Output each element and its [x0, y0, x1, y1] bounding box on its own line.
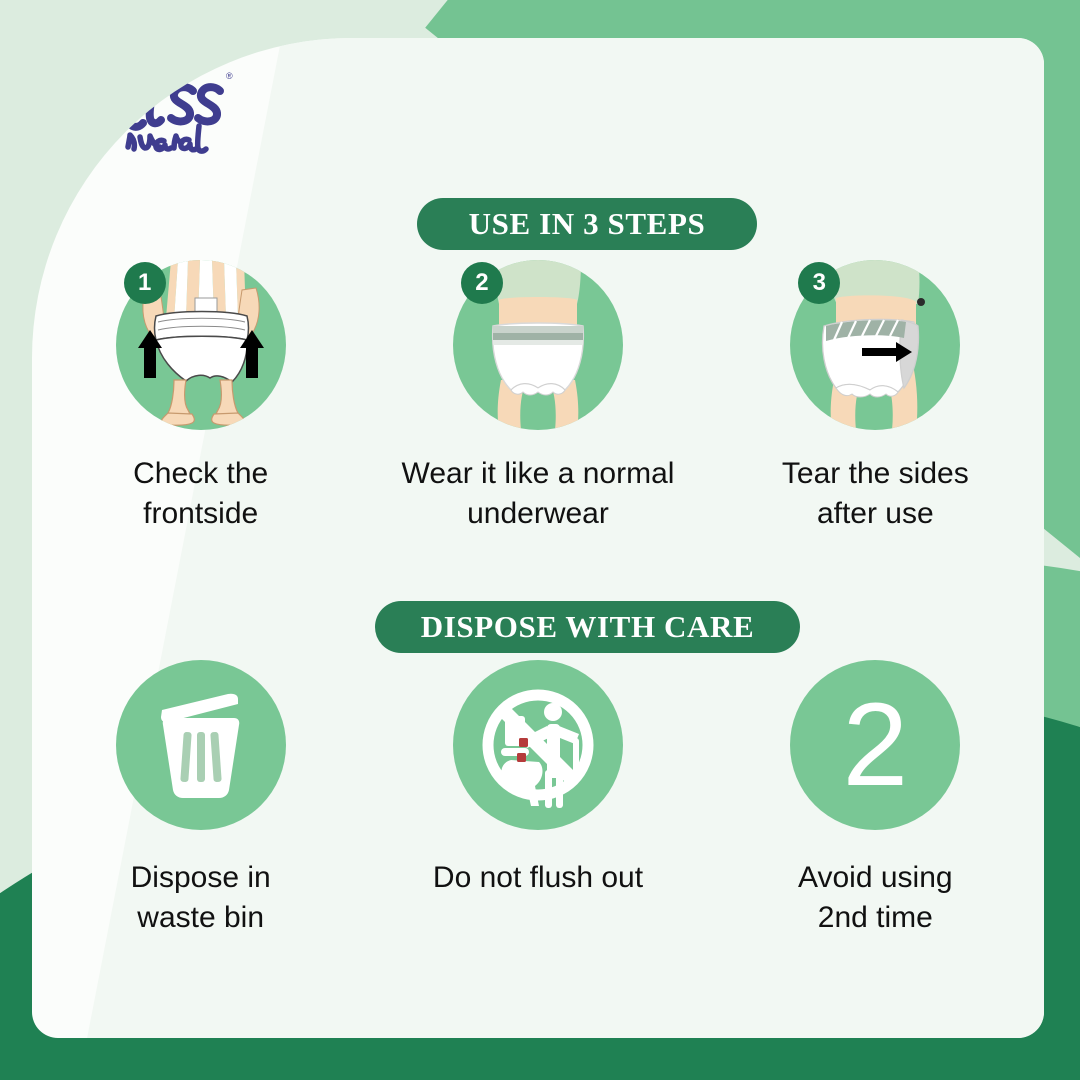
step-caption-1: Check the frontside [133, 454, 268, 533]
no-flush-icon [453, 660, 623, 830]
dispose-caption-3: Avoid using 2nd time [798, 858, 953, 937]
usage-steps-row: 1 [32, 260, 1044, 533]
step-dispose-in-waste-bin: Dispose in waste bin [32, 660, 369, 937]
brand-logo: ® [50, 44, 240, 169]
trademark-symbol: ® [226, 71, 233, 81]
disposal-row: Dispose in waste bin [32, 660, 1044, 937]
content-card: ® USE IN 3 STEPS [32, 38, 1044, 1038]
step-avoid-second-use: 2 Avoid using 2nd time [707, 660, 1044, 937]
leaf-icon [61, 59, 84, 82]
dispose-caption-1: Dispose in waste bin [131, 858, 271, 937]
banner-dispose-with-care: DISPOSE WITH CARE [375, 601, 800, 653]
trash-bin-icon [116, 660, 286, 830]
big-number-two: 2 [790, 660, 960, 830]
step-wear-normally: 2 [369, 260, 706, 533]
step-do-not-flush: Do not flush out [369, 660, 706, 937]
step-caption-3: Tear the sides after use [782, 454, 969, 533]
step-caption-2: Wear it like a normal underwear [402, 454, 675, 533]
step-badge-2: 2 [461, 262, 503, 304]
step-badge-1: 1 [124, 262, 166, 304]
banner-use-in-3-steps: USE IN 3 STEPS [417, 198, 757, 250]
step-badge-3: 3 [798, 262, 840, 304]
step-tear-sides: 3 [707, 260, 1044, 533]
infographic-canvas: ® USE IN 3 STEPS [0, 0, 1080, 1080]
step-check-frontside: 1 [32, 260, 369, 533]
dispose-caption-2: Do not flush out [433, 858, 643, 898]
number-two-icon: 2 [790, 660, 960, 830]
